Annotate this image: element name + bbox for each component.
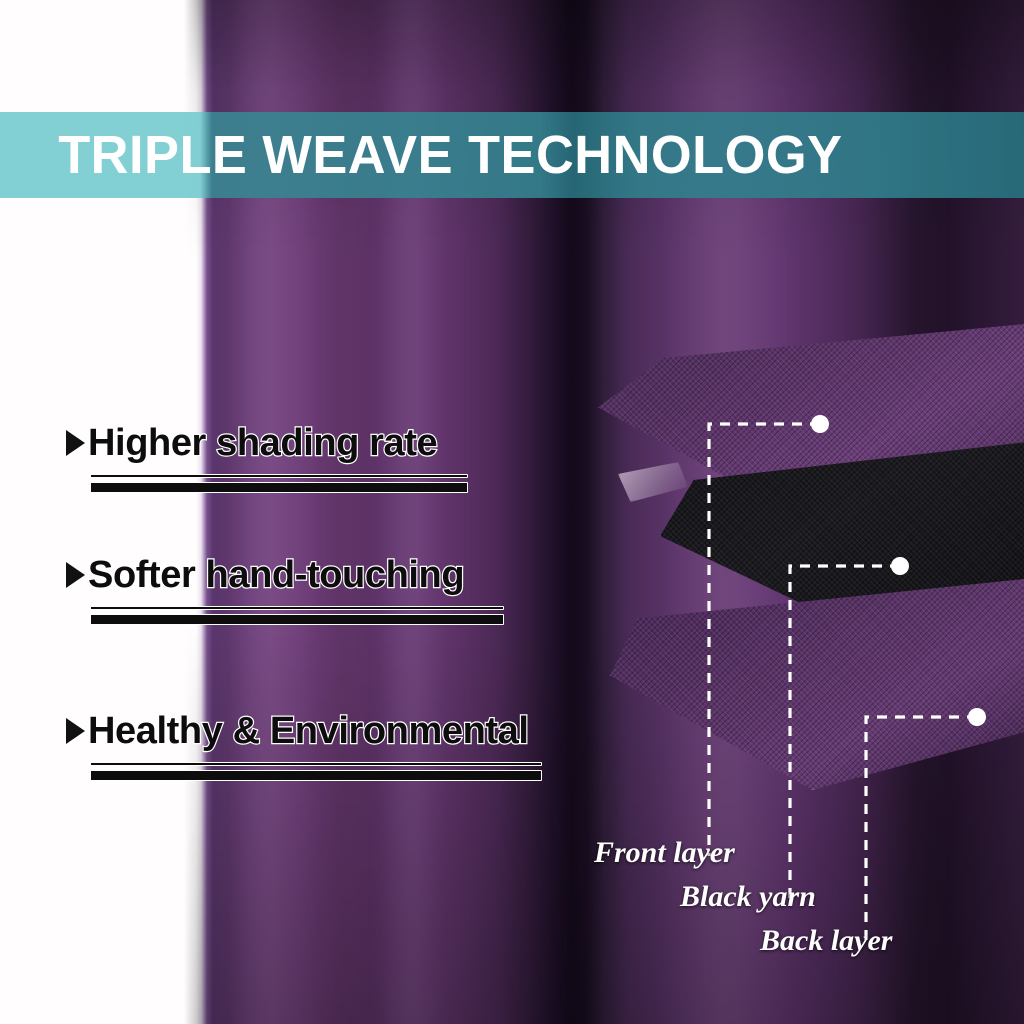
- feature-item-shading[interactable]: Higher shading rate: [66, 424, 468, 493]
- feature-label: Higher shading rate: [88, 424, 437, 462]
- label-back-layer: Back layer: [760, 926, 892, 956]
- fabric-layer-diagram: [580, 320, 1024, 880]
- feature-underline: [90, 474, 468, 493]
- feature-row: Higher shading rate: [66, 424, 468, 462]
- triangle-right-icon: [66, 430, 85, 456]
- underline-thin-rule: [90, 606, 504, 610]
- fabric-back-layer: [610, 570, 1024, 790]
- underline-thick-rule: [90, 770, 542, 781]
- underline-thick-rule: [90, 482, 468, 493]
- feature-label: Softer hand-touching: [88, 556, 464, 594]
- weave-texture: [610, 570, 1024, 790]
- header-banner: TRIPLE WEAVE TECHNOLOGY: [0, 112, 1024, 198]
- feature-row: Softer hand-touching: [66, 556, 504, 594]
- label-front-layer: Front layer: [594, 838, 735, 868]
- feature-label: Healthy & Environmental: [88, 712, 529, 750]
- label-black-yarn: Black yarn: [680, 882, 816, 912]
- underline-thin-rule: [90, 474, 468, 478]
- feature-underline: [90, 762, 542, 781]
- feature-item-softness[interactable]: Softer hand-touching: [66, 556, 504, 625]
- fabric-corner-curl: [618, 462, 688, 502]
- feature-item-environmental[interactable]: Healthy & Environmental: [66, 712, 542, 781]
- underline-thin-rule: [90, 762, 542, 766]
- banner-title: TRIPLE WEAVE TECHNOLOGY: [0, 128, 842, 182]
- infographic-canvas: TRIPLE WEAVE TECHNOLOGY Higher shading r…: [0, 0, 1024, 1024]
- feature-row: Healthy & Environmental: [66, 712, 542, 750]
- underline-thick-rule: [90, 614, 504, 625]
- triangle-right-icon: [66, 562, 85, 588]
- feature-underline: [90, 606, 504, 625]
- triangle-right-icon: [66, 718, 85, 744]
